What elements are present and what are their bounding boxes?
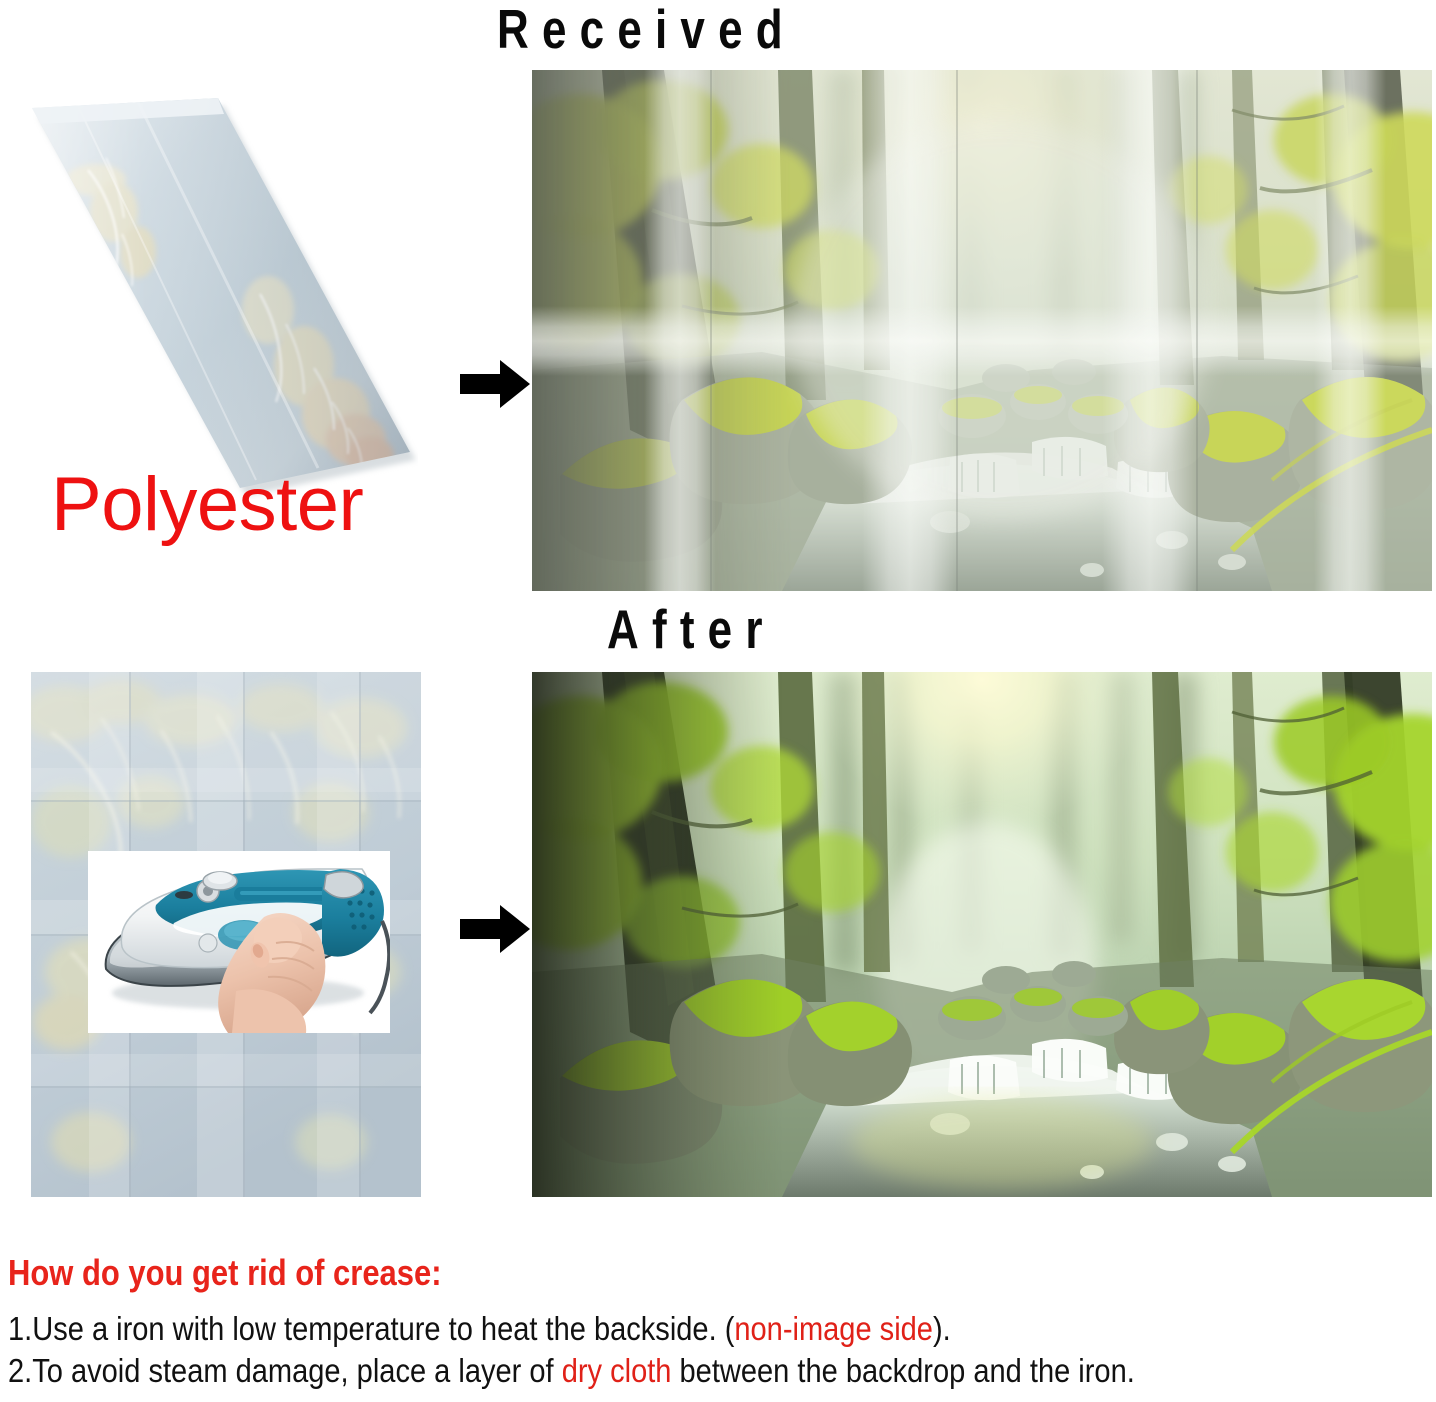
section-title-received: Received: [497, 0, 796, 61]
right-arrow-icon-2: [460, 903, 532, 960]
right-arrow-icon: [460, 358, 532, 415]
instruction-2-highlight: dry cloth: [562, 1352, 672, 1389]
instruction-2-text-a: To avoid steam damage, place a layer of: [32, 1352, 561, 1389]
instruction-line-1: 1.Use a iron with low temperature to hea…: [8, 1308, 1265, 1350]
instruction-2-text-b: between the backdrop and the iron.: [671, 1352, 1134, 1389]
polyester-label: Polyester: [51, 461, 363, 548]
instruction-1-text-b: ).: [933, 1310, 951, 1347]
instruction-1-number: 1.: [8, 1310, 32, 1347]
instructions-block: How do you get rid of crease: 1.Use a ir…: [8, 1252, 1436, 1392]
iron-photo-inset: [88, 851, 390, 1033]
instruction-2-number: 2.: [8, 1352, 32, 1389]
instruction-1-highlight: non-image side: [734, 1310, 933, 1347]
received-backdrop-photo: [532, 70, 1432, 591]
instruction-line-2: 2.To avoid steam damage, place a layer o…: [8, 1350, 1265, 1392]
instructions-heading: How do you get rid of crease:: [8, 1252, 1236, 1294]
section-title-after: After: [607, 597, 776, 661]
after-backdrop-photo: [532, 672, 1432, 1197]
folded-fabric-image: [18, 84, 418, 499]
instruction-1-text-a: Use a iron with low temperature to heat …: [32, 1310, 734, 1347]
